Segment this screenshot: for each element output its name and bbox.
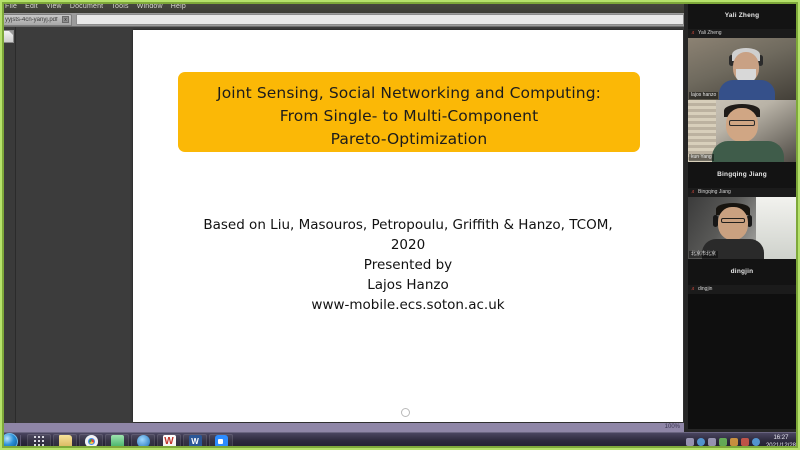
thumbnail-sidebar[interactable]	[0, 27, 16, 432]
slide-body-line-1: Based on Liu, Masouros, Petropoulu, Grif…	[153, 215, 663, 235]
video-overlay-name: 北京市北京	[689, 251, 718, 258]
menu-item-document[interactable]: Document	[68, 0, 110, 13]
taskbar-app-zoom[interactable]	[209, 434, 233, 450]
tab-strip-empty-area	[76, 14, 684, 25]
tray-network-icon[interactable]	[697, 438, 705, 446]
tray-security-icon[interactable]	[719, 438, 727, 446]
participant-name-bar: ♬ Bingqing Jiang	[688, 188, 796, 197]
tray-sound-icon[interactable]	[708, 438, 716, 446]
video-overlay-name: kun Yang	[689, 154, 714, 161]
participant-video[interactable]: kun Yang	[688, 100, 796, 162]
menu-item-help[interactable]: Help	[169, 0, 192, 13]
tray-antivirus-icon[interactable]	[741, 438, 749, 446]
slide-title-line-1: Joint Sensing, Social Networking and Com…	[178, 84, 640, 102]
taskbar-app-internet-explorer[interactable]	[131, 434, 155, 450]
close-icon[interactable]: x	[62, 16, 69, 23]
taskbar-app-show-desktop[interactable]	[27, 434, 51, 450]
slide-title-line-3: Pareto-Optimization	[178, 130, 640, 148]
participant-video-placeholder[interactable]	[688, 294, 796, 356]
document-tab-label: yyjsts-4cn-yanyj.pdf	[5, 17, 60, 23]
avatar-head	[718, 207, 748, 240]
participant-tile[interactable]: kun Yang	[688, 100, 796, 162]
participant-name-label: Bingqing Jiang	[698, 188, 731, 197]
glasses-icon	[729, 120, 755, 126]
slide-body-line-2: 2020	[153, 235, 663, 255]
tray-input-method-icon[interactable]	[752, 438, 760, 446]
taskbar-divider	[20, 435, 25, 449]
mic-muted-icon: ♬	[691, 188, 696, 197]
taskbar-app-list: W W	[27, 434, 233, 450]
menu-item-tools[interactable]: Tools	[109, 0, 134, 13]
slide-title-line-2: From Single- to Multi-Component	[178, 107, 640, 125]
participant-name-bar: ♬ dingjin	[688, 285, 796, 294]
tray-chevron-icon[interactable]	[686, 438, 694, 446]
app-grid-icon	[33, 435, 46, 448]
folder-icon	[59, 435, 72, 448]
document-tab[interactable]: yyjsts-4cn-yanyj.pdf x	[2, 14, 72, 26]
avatar-body	[719, 80, 775, 100]
taskbar-app-word[interactable]: W	[183, 434, 207, 450]
participant-video[interactable]: lajos hanzo	[688, 38, 796, 100]
participant-tile[interactable]: dingjin ♬ dingjin	[688, 259, 796, 356]
pdf-canvas-area[interactable]: Joint Sensing, Social Networking and Com…	[16, 27, 684, 432]
menu-item-window[interactable]: Window	[135, 0, 169, 13]
page-thumbnail-icon[interactable]	[2, 30, 14, 43]
windows-start-orb-icon[interactable]	[1, 433, 18, 450]
glasses-icon	[721, 218, 745, 223]
mic-muted-icon: ♬	[691, 29, 696, 38]
menu-item-file[interactable]: File	[3, 0, 23, 13]
pdf-status-bar: 100%	[0, 423, 684, 432]
participant-header-name: Bingqing Jiang	[688, 162, 796, 188]
video-overlay-name: lajos hanzo	[689, 92, 718, 99]
loading-spinner-icon	[401, 408, 410, 417]
slide-body-line-3: Presented by	[153, 255, 663, 275]
avatar-body	[712, 141, 784, 162]
chrome-icon	[85, 435, 98, 448]
clock-time: 16:27	[773, 435, 788, 441]
pdf-page: Joint Sensing, Social Networking and Com…	[133, 30, 683, 422]
zoom-participants-panel[interactable]: Yali Zheng ♬ Yali Zheng lajos hanzo	[688, 3, 796, 429]
participant-name-label: dingjin	[698, 285, 712, 294]
participant-header-name: Yali Zheng	[688, 3, 796, 29]
mail-icon	[111, 435, 124, 448]
document-tab-strip: yyjsts-4cn-yanyj.pdf x	[0, 13, 684, 27]
pdf-viewer-window: File Edit View Document Tools Window Hel…	[0, 0, 684, 432]
taskbar[interactable]: W W 16:27 2021/12/28	[0, 432, 800, 450]
participant-tile[interactable]: Bingqing Jiang ♬ Bingqing Jiang 北京市北京	[688, 162, 796, 259]
participant-tile[interactable]: Yali Zheng ♬ Yali Zheng lajos hanzo	[688, 3, 796, 100]
slide-body-line-4: Lajos Hanzo	[153, 275, 663, 295]
zoom-icon	[215, 435, 228, 448]
menu-item-view[interactable]: View	[44, 0, 68, 13]
slide-body: Based on Liu, Masouros, Petropoulu, Grif…	[153, 215, 663, 315]
slide-body-line-5: www-mobile.ecs.soton.ac.uk	[153, 295, 663, 315]
taskbar-clock[interactable]: 16:27 2021/12/28	[766, 434, 796, 450]
participant-video[interactable]: 北京市北京	[688, 197, 796, 259]
participant-header-name: dingjin	[688, 259, 796, 285]
menu-item-edit[interactable]: Edit	[23, 0, 44, 13]
taskbar-app-wps[interactable]: W	[157, 434, 181, 450]
internet-explorer-icon	[137, 435, 150, 448]
taskbar-app-chrome[interactable]	[79, 434, 103, 450]
taskbar-app-file-explorer[interactable]	[53, 434, 77, 450]
slide-title-box: Joint Sensing, Social Networking and Com…	[178, 72, 640, 152]
clock-date: 2021/12/28	[766, 443, 796, 449]
tray-update-icon[interactable]	[730, 438, 738, 446]
zoom-level-label: 100%	[665, 423, 680, 432]
word-icon: W	[189, 435, 202, 448]
taskbar-app-mail[interactable]	[105, 434, 129, 450]
menu-bar: File Edit View Document Tools Window Hel…	[0, 0, 684, 13]
mic-muted-icon: ♬	[691, 285, 696, 294]
wps-icon: W	[163, 435, 176, 448]
system-tray[interactable]: 16:27 2021/12/28	[686, 433, 798, 450]
participant-name-bar: ♬ Yali Zheng	[688, 29, 796, 38]
participant-name-label: Yali Zheng	[698, 29, 722, 38]
desktop-screen: File Edit View Document Tools Window Hel…	[0, 0, 800, 450]
